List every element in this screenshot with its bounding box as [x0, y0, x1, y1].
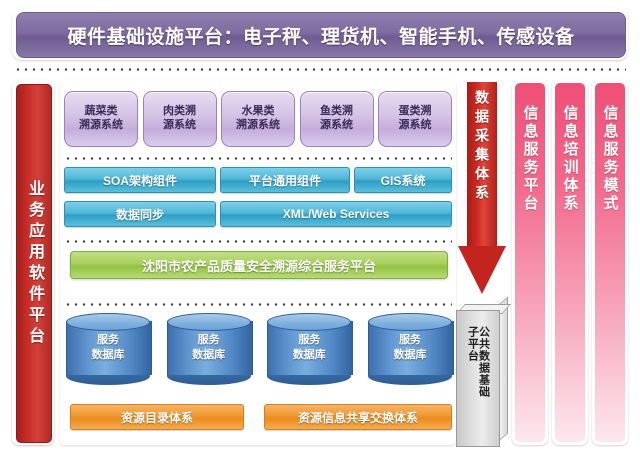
traceability-label-line2: 源系统: [320, 119, 353, 133]
traceability-label-line1: 水果类: [242, 105, 275, 119]
service-database-1[interactable]: 服务 数据库: [66, 313, 150, 383]
data-collection-arrow: 数据采集体系: [458, 82, 506, 294]
architecture-diagram: 硬件基础设施平台：电子秤、理货机、智能手机、传感设备 业务应用软件平台 蔬菜类 …: [0, 0, 640, 454]
comprehensive-service-platform[interactable]: 沈阳市农产品质量安全溯源综合服务平台: [70, 251, 448, 279]
data-collection-label-wrap: 数据采集体系: [458, 90, 506, 240]
public-data-labels: 公共数据基础 子平台: [457, 326, 498, 438]
traceability-label-line2: 溯源系统: [79, 119, 123, 133]
divider-components: [64, 240, 452, 243]
right-column-bg: 信息服务平台: [515, 83, 545, 442]
divider-header: [14, 68, 626, 71]
traceability-system-egg[interactable]: 蛋类溯 源系统: [378, 91, 452, 147]
divider-platform: [64, 303, 452, 306]
cylinder-top: [66, 313, 150, 331]
box-side-face: [499, 296, 508, 441]
traceability-label-line1: 鱼类溯: [320, 105, 353, 119]
service-database-label: 服务 数据库: [368, 333, 452, 363]
data-collection-label: 数据采集体系: [475, 90, 489, 204]
components-section: SOA架构组件 平台通用组件 GIS系统 数据同步 XML/Web Servic…: [64, 167, 452, 235]
right-column-label: 信息服务平台: [523, 105, 538, 213]
divider-traceability: [64, 157, 452, 160]
right-column-label: 信息培训体系: [563, 105, 578, 213]
public-data-label-sub: 子平台: [467, 326, 478, 362]
traceability-system-vegetable[interactable]: 蔬菜类 溯源系统: [64, 91, 138, 147]
right-column-info-service-mode[interactable]: 信息服务模式: [592, 80, 628, 445]
component-gis[interactable]: GIS系统: [354, 167, 452, 193]
service-database-4[interactable]: 服务 数据库: [368, 313, 452, 383]
right-column-info-training-system[interactable]: 信息培训体系: [552, 80, 588, 445]
db-label-line1: 服务: [167, 333, 251, 348]
db-label-line2: 数据库: [66, 348, 150, 363]
public-data-subplatform[interactable]: 公共数据基础 子平台: [456, 304, 508, 445]
components-row-1: SOA架构组件 平台通用组件 GIS系统: [64, 167, 452, 193]
traceability-label-line2: 源系统: [163, 119, 196, 133]
traceability-systems-row: 蔬菜类 溯源系统 肉类溯 源系统 水果类 溯源系统 鱼类溯 源系统 蛋类溯 源系…: [64, 88, 452, 150]
right-column-bg: 信息服务模式: [595, 83, 625, 442]
traceability-label-line1: 肉类溯: [163, 105, 196, 119]
service-database-label: 服务 数据库: [66, 333, 150, 363]
cylinder-top: [167, 313, 251, 331]
components-row-2: 数据同步 XML/Web Services: [64, 201, 452, 227]
component-soa[interactable]: SOA架构组件: [64, 167, 216, 193]
resource-exchange-system[interactable]: 资源信息共享交换体系: [264, 404, 452, 430]
traceability-system-meat[interactable]: 肉类溯 源系统: [143, 91, 217, 147]
db-label-line2: 数据库: [267, 348, 351, 363]
db-label-line2: 数据库: [368, 348, 452, 363]
traceability-system-fish[interactable]: 鱼类溯 源系统: [300, 91, 374, 147]
cylinder-top: [267, 313, 351, 331]
right-column-bg: 信息培训体系: [555, 83, 585, 442]
resource-catalog-system[interactable]: 资源目录体系: [70, 404, 244, 430]
component-xml-web-services[interactable]: XML/Web Services: [220, 201, 452, 227]
traceability-label-line1: 蛋类溯: [399, 105, 432, 119]
db-label-line2: 数据库: [167, 348, 251, 363]
db-label-line1: 服务: [66, 333, 150, 348]
db-label-line1: 服务: [368, 333, 452, 348]
arrow-down-icon: [458, 246, 506, 294]
component-data-sync[interactable]: 数据同步: [64, 201, 216, 227]
hardware-platform-title: 硬件基础设施平台：电子秤、理货机、智能手机、传感设备: [16, 12, 626, 58]
traceability-label-line1: 蔬菜类: [85, 105, 118, 119]
cylinder-top: [368, 313, 452, 331]
service-database-3[interactable]: 服务 数据库: [267, 313, 351, 383]
public-data-label-main: 公共数据基础: [478, 326, 489, 398]
hardware-platform-banner: 硬件基础设施平台：电子秤、理货机、智能手机、传感设备: [12, 8, 628, 60]
traceability-system-fruit[interactable]: 水果类 溯源系统: [221, 91, 295, 147]
service-database-label: 服务 数据库: [167, 333, 251, 363]
business-application-sidebar-bg: 业务应用软件平台: [16, 84, 52, 443]
service-database-label: 服务 数据库: [267, 333, 351, 363]
business-application-sidebar: 业务应用软件平台: [12, 80, 54, 445]
component-platform-common[interactable]: 平台通用组件: [220, 167, 350, 193]
traceability-label-line2: 源系统: [399, 119, 432, 133]
right-column-info-service-platform[interactable]: 信息服务平台: [512, 80, 548, 445]
service-database-2[interactable]: 服务 数据库: [167, 313, 251, 383]
service-databases-row: 服务 数据库 服务 数据库 服务 数据库: [66, 313, 452, 385]
right-column-label: 信息服务模式: [603, 105, 618, 213]
traceability-label-line2: 溯源系统: [236, 119, 280, 133]
business-application-label: 业务应用软件平台: [26, 180, 42, 348]
resource-systems-row: 资源目录体系 资源信息共享交换体系: [70, 404, 452, 428]
db-label-line1: 服务: [267, 333, 351, 348]
